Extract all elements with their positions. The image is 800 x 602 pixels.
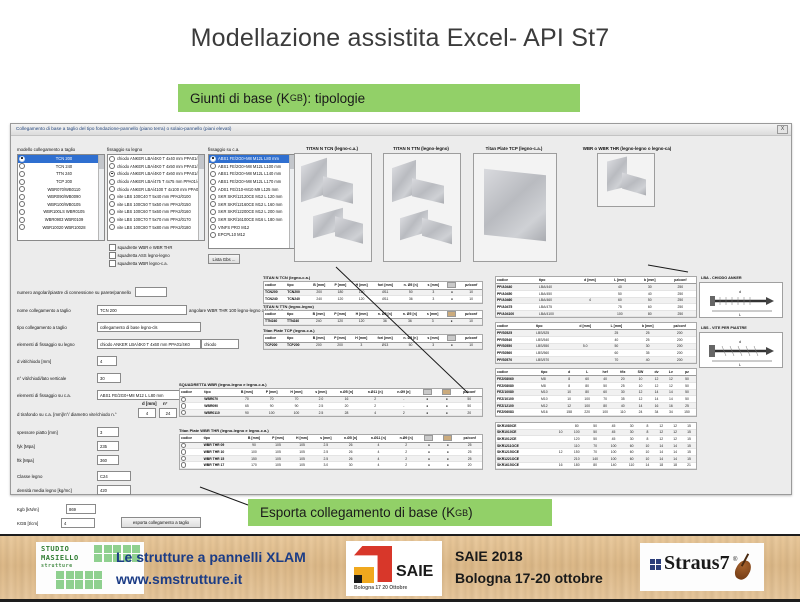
td: WBR THR 10 [203,449,242,456]
list-item[interactable]: chiodo ANKER LBA/475 T 4x75 mm PPA01/475 [108,178,204,186]
th: P [mm] [330,335,351,342]
td: 90 [242,442,266,449]
th: n.Ø9 [n] [390,389,417,396]
listbox-model[interactable]: TCN 200 TCN 240 TTN 240 TCP 200 WBR070/W… [17,154,105,241]
schematic-lba: d L [699,282,783,318]
th: codice [264,311,286,318]
list-item[interactable]: vite LBS 100C80 T 5x80 mm PPA2/0180 [108,223,204,231]
td: 2.5 [309,409,333,416]
radio-icon[interactable] [210,209,216,215]
export-collegamento-button[interactable]: esporta collegamento a taglio [121,517,201,528]
list-item-label: ABS1 FE/2G0+M8 M12L L170 mm [218,179,295,184]
list-item[interactable]: vite LBS 100C60 T 5x60 mm PPA2/0160 [108,208,204,216]
th: d [mm] [575,277,605,284]
table-row: TTN240 TTN240 240 120 120 36 36 3 ● 10 [264,318,482,325]
saie-black-shape [354,575,362,583]
radio-icon[interactable] [109,186,115,192]
td: 4 [364,455,393,462]
close-icon[interactable]: X [777,125,788,134]
td: 50 [678,396,696,403]
td: 60 [623,449,641,456]
radio-icon[interactable] [109,201,115,207]
td-radio[interactable] [180,442,203,449]
list-item[interactable]: WBR10020 WBR10028 [18,223,104,231]
straus7-sq-2 [656,559,661,564]
td: FEZ/06083 [496,409,540,416]
table-row: WBR THR 09 90 105 105 2.5 26 4 2 ● ● 25 [180,442,482,449]
table-row: SKR1615OCE 16 180 80 140 110 14 18 18 21 [496,462,696,469]
td: 25 [632,330,663,337]
td: 50 [605,290,635,297]
list-item[interactable]: TTN 240 [18,170,104,178]
list-item-label: TCP 200 [27,179,104,184]
label-concrete-group: fissaggio su c.a. [208,147,239,152]
list-item-label: chiodo ANKER LBA/4K0 T 4x60 mm PPA01/4K6 [117,171,204,176]
th: codice [264,335,286,342]
td: PF/A0440 [496,284,538,291]
td: 40 [596,376,614,383]
checkbox-icon[interactable] [109,244,116,251]
scrollbar-model[interactable] [98,155,104,240]
radio-icon[interactable] [210,171,216,177]
td: SKR1211OCE [496,442,554,449]
list-item[interactable]: TCN 240 [18,163,104,171]
color-swatch [447,282,456,288]
scrollbar-wood[interactable] [198,155,204,240]
td: 2 [393,462,419,469]
list-item-label: vite LBS 100C80 T 5x80 mm PPA2/0180 [117,225,204,230]
td: 250 [665,297,696,304]
td-radio[interactable] [180,409,203,416]
th: B [mm] [234,389,259,396]
td: 2 [393,442,419,449]
td: 2 [393,449,419,456]
radio-icon[interactable] [19,171,25,177]
radio-icon[interactable] [210,201,216,207]
td: 2 [390,409,417,416]
radio-icon[interactable] [109,179,115,185]
td: 10 [632,382,650,389]
logo-line-2: MASIELLO [41,554,79,562]
td: 2.5 [314,442,337,449]
td: 14 [632,402,650,409]
list-item-label: VINFS PRO M12 [218,225,295,230]
th: n.Ø5 [n] [333,389,360,396]
radio-icon[interactable] [210,163,216,169]
photo-tcn [294,153,372,262]
list-item[interactable]: EPCPL10 M12 [209,231,295,239]
td: 10 [460,296,482,303]
label-fissaggio-legno: elementi di fissaggio su legno [17,342,75,347]
td: ● [443,342,460,349]
input-kgb-knm[interactable]: 869 [66,504,96,514]
th: SW [632,369,650,376]
th: pz/conf [665,277,696,284]
td: 10 [640,442,654,449]
td-radio[interactable] [180,455,203,462]
td: LBA/475 [538,304,575,311]
listbox-wood-fixings[interactable]: chiodo ANKER LBA/4K0 T 4x40 mm PPA01/4K0… [107,154,205,241]
radio-icon[interactable] [210,186,216,192]
page-title: Modellazione assistita Excel- API St7 [0,24,800,53]
list-item[interactable]: chiodo ANKER LBA/4100 T 4x100 mm PPA01/4… [108,185,204,193]
color-swatch [423,389,432,395]
list-item[interactable]: VINFS PRO M12 [209,223,295,231]
schematic-caption-lba: LBA - CHIODO ANKER [701,276,742,280]
table-row: TCN240 TCN240 240 120 120 Ø11 36 3 ● 10 [264,296,482,303]
list-item-label: TTN 240 [27,171,104,176]
list-item[interactable]: chiodo ANKER LBA/4K0 T 4x40 mm PPA01/4K0 [108,155,204,163]
td-radio[interactable] [180,449,203,456]
table-header-row: codice tipo B [mm] P [mm] H [mm] fori [m… [264,282,482,289]
td: WBR070 [203,396,234,403]
radio-icon[interactable] [19,186,25,192]
td: 4 [575,297,605,304]
th: pz/conf [663,323,696,330]
td: 14 [640,462,654,469]
td: 12 [554,449,568,456]
td: PF/A0450 [496,290,538,297]
checkbox-label: squadrette WBR e WBR THR [118,245,173,250]
td [575,310,605,317]
table-header-row: codice tipo d L hef tfix SW dv Lv pz [496,369,696,376]
td: 18 [654,462,668,469]
input-tipo-collegamento[interactable]: collegamento di base legno-cls [97,322,201,332]
list-item[interactable]: ADS1 FE/210+M10 M9 L125 mm [209,185,295,193]
td: 14 [668,455,682,462]
td: 4 [364,442,393,449]
radio-icon[interactable] [109,209,115,215]
table-header-row: codice tipo B [mm] P [mm] H [mm] n. Ø5 [… [264,311,482,318]
input-fissaggio-legno[interactable]: chiodo ANKER LBA/4K0 T 4x60 mm PPA01/4K0 [97,339,201,349]
td: 105 [266,455,290,462]
wood-swatch [447,311,456,317]
radio-icon[interactable] [19,209,25,215]
th: n.Ø5 [n] [337,435,363,442]
input-densita[interactable]: 420 [97,485,131,495]
th: d [mm] [570,323,601,330]
radio-icon[interactable] [19,163,25,169]
td: 150 [678,409,696,416]
td: 45 [604,436,622,443]
checkbox-label: squadretta ASS legno-legno [118,253,170,258]
footer-tagline: Le strutture a pannelli XLAM [116,549,306,565]
td: 60 [578,376,596,383]
table-caption-squadretta: SQUADRETTA WBR (legno-legno e legno-c.a.… [179,382,267,387]
td: 180 [568,462,586,469]
td: 250 [665,304,696,311]
checkbox-wbr-ca[interactable]: squadretta WBR legno-c.a. [109,260,168,267]
td: TTN240 [286,318,308,325]
list-item[interactable]: SKR SKR/16100CE M16 L 180 mm [209,216,295,224]
td: 10 [560,396,578,403]
th: s [mm] [422,311,443,318]
label-fyk: fyk [Mpa] [17,444,35,449]
td: 120 [330,296,351,303]
td: 26 [337,455,363,462]
list-item-label: WBR100LS WBR0105 [27,209,104,214]
list-item-label: chiodo ANKER LBA/4100 T 4x100 mm PPA01/4… [117,187,204,192]
td-radio[interactable] [180,462,203,469]
table-row: SKR1215OCE 12 150 70 100 60 10 14 14 15 [496,449,696,456]
td: 200 [663,356,696,363]
checkbox-icon[interactable] [109,252,116,259]
radio-icon[interactable] [109,224,115,230]
td: 240 [309,296,330,303]
list-item-label: TCN 200 [27,156,104,161]
input-ftk[interactable]: 360 [97,455,119,465]
th: n. Ø5 [n] [397,311,422,318]
td: 36 [372,318,397,325]
td: 20 [614,376,631,383]
td: 110 [614,409,631,416]
checkbox-wbr-thr[interactable]: squadrette WBR e WBR THR [109,244,172,251]
input-classe-legno[interactable]: C24 [97,471,131,481]
th: s [mm] [423,282,444,289]
label-densita: densità media legno [kg/mc] [17,488,72,493]
td: FEZ/08080 [496,382,540,389]
td: LBS/570 [535,356,569,363]
radio-icon[interactable] [109,171,115,177]
schematic-lbs: d L [699,332,783,368]
list-item[interactable]: ABS1 FE/2G0+M8 M12L L100 mm [209,163,295,171]
radio-icon[interactable] [181,449,186,454]
td: 70 [259,396,284,403]
th: codice [180,435,203,442]
td: 12 [668,436,682,443]
list-item-label: WBR100/WB0105 [27,202,104,207]
radio-icon[interactable] [19,217,25,223]
input-tirafondo-n[interactable]: 24 [159,408,177,418]
td: 8 [640,436,654,443]
td: FEZ/08060 [496,376,540,383]
input-numero-angolari[interactable] [135,287,167,297]
footer-website-link[interactable]: www.smstrutture.it [116,571,242,587]
radio-icon[interactable] [19,179,25,185]
table-squadretta-wbr: codice tipo B [mm] P [mm] H [mm] s [mm] … [179,388,483,417]
td [575,304,605,311]
td: FEZ/12100 [496,402,540,409]
input-spessore[interactable]: 3 [97,427,119,437]
radio-icon[interactable] [109,156,115,162]
td: TTN240 [264,318,286,325]
td: 12 [560,402,578,409]
td: 30 [623,436,641,443]
list-item[interactable]: WBR0903 WBR0109 [18,216,104,224]
list-item[interactable]: SKR SKR/12160CE M12 L 160 mm [209,201,295,209]
list-item[interactable]: vite LBS 100C50 T 5x50 mm PPA2/0150 [108,201,204,209]
th-swatch [417,389,437,396]
td: 25 [457,455,482,462]
straus7-wordmark: Straus7 [664,552,730,575]
td-radio[interactable] [180,403,203,410]
radio-icon[interactable] [210,179,216,185]
td: ● [444,289,461,296]
td-radio[interactable] [180,396,203,403]
list-item[interactable]: ABS1 FE/2G0+M8 M12L L170 mm [209,178,295,186]
table-tcp: codice tipo B [mm] P [mm] H [mm] fori [m… [263,334,483,350]
th: tfix [614,369,631,376]
list-item[interactable]: ABS1 FE/2G0+M8 M12L L140 mm [209,170,295,178]
td [575,284,605,291]
list-item[interactable]: WBR090/WB0090 [18,193,104,201]
td: 105 [290,455,314,462]
td: 80 [596,402,614,409]
straus7-sq-1 [650,559,655,564]
td: 24 [632,409,650,416]
td: 150 [242,455,266,462]
userform-body: modello collegamento a taglio fissaggio … [11,136,791,494]
td: 50 [596,382,614,389]
table-row: WBR090 65 90 90 2.5 20 2 - ● ● 50 [180,403,482,410]
td: 105 [266,442,290,449]
label-numero-angolari: numero angolari/piastre di connessione s… [17,290,131,295]
th: pz/conf [457,389,482,396]
label-n-count: n° [163,401,167,406]
radio-icon[interactable] [109,163,115,169]
td: 60 [635,304,665,311]
input-fyk[interactable]: 235 [97,441,119,451]
input-n-viti-verticale[interactable]: 30 [97,373,121,383]
radio-icon[interactable] [210,156,216,162]
list-item[interactable]: SKR SKR/12200CE M12 L 200 mm [209,208,295,216]
td: 50 [601,343,632,350]
td: ● [417,403,437,410]
td: 40 [635,290,665,297]
userform-caption: Collegamento di base a taglio del tipo f… [16,126,231,131]
radio-icon[interactable] [210,217,216,223]
td: 30 [635,284,665,291]
table-wbr-thr: codice tipo B [mm] P [mm] H [mm] s [mm] … [179,434,483,470]
list-item[interactable]: ABS1 FE/2G0+M8 M12L L80 mm [209,155,295,163]
td: ● [417,396,437,403]
th: n. Ø5 [n] [398,335,423,342]
radio-icon[interactable] [181,456,186,461]
td: 50 [678,389,696,396]
radio-icon[interactable] [210,224,216,230]
td: 10 [554,429,568,436]
radio-icon[interactable] [109,194,115,200]
logo-line-1: STUDIO [41,545,69,553]
td: LBA/450 [538,290,575,297]
radio-icon[interactable] [181,403,186,408]
td: 25 [632,336,663,343]
list-item[interactable]: WBR070/WB0110 [18,185,104,193]
table-row: FEZ/10100 M10 10 100 70 35 12 14 14 50 [496,396,696,403]
banner-bottom-text-post: ) [468,505,473,520]
td: 8 [560,382,578,389]
td: 240 [308,318,330,325]
photo-caption-tcn: TITAN N TCN (legno-c.a.) [292,146,372,151]
list-item[interactable]: chiodo ANKER LBA/4K0 T 4x50 mm PPA01/4K5 [108,163,204,171]
td: 3 [422,318,443,325]
radio-icon[interactable] [19,194,25,200]
list-item[interactable]: vite LBS 100C40 T 5x40 mm PPA2/0100 [108,193,204,201]
svg-text:d: d [739,339,741,344]
excel-userform-window[interactable]: X Collegamento di base a taglio del tipo… [10,123,792,495]
radio-icon[interactable] [181,462,186,467]
checkbox-icon[interactable] [109,260,116,267]
radio-icon[interactable] [109,217,115,223]
label-tirafondo: d tirafondo su c.a. [mm]/n°/ diametro vi… [17,412,117,417]
input-d-vite[interactable]: 4 [97,356,117,366]
td: LBS/560 [535,350,569,357]
th-swatch [443,335,460,342]
radio-icon[interactable] [181,397,186,402]
td: 200 [330,342,351,349]
list-item[interactable]: SKR SKR/12120CE M12 L 120 mm [209,193,295,201]
td: SKR1012CE [496,436,554,443]
input-tirafondo-d[interactable]: 4 [138,408,156,418]
list-item[interactable]: chiodo ANKER LBA/4K0 T 4x60 mm PPA01/4K6 [108,170,204,178]
label-d-mm: d [mm] [142,401,157,406]
radio-icon[interactable] [19,201,25,207]
list-item[interactable]: vite LBS 100C70 T 5x70 mm PPA2/0170 [108,216,204,224]
list-item[interactable]: WBR100LS WBR0105 [18,208,104,216]
radio-icon[interactable] [181,410,186,415]
td: 100 [242,449,266,456]
checkbox-ass-legno[interactable]: squadretta ASS legno-legno [109,252,170,259]
td: 14 [654,442,668,449]
td: 140 [586,455,604,462]
td: 70 [586,442,604,449]
td: 100 [284,409,309,416]
list-item[interactable]: TCP 200 [18,178,104,186]
td: 15 [682,455,696,462]
input-nome-collegamento[interactable]: TCN 200 [97,305,187,315]
td: 2 [393,455,419,462]
th: hef [596,369,614,376]
list-item-label: WBR090/WB0090 [27,194,104,199]
th: s [mm] [309,389,333,396]
list-item[interactable]: WBR100/WB0105 [18,201,104,209]
table-row: SKR1211OCE 110 70 100 60 10 14 14 15 [496,442,696,449]
input-chiodo[interactable]: chiodo [201,339,239,349]
table-header-row: codice tipo B [mm] P [mm] H [mm] s [mm] … [180,435,482,442]
td: 20 [457,409,482,416]
radio-icon[interactable] [210,232,216,238]
td: 80 [578,389,596,396]
td: M10 [540,396,560,403]
listbox-concrete-fixings[interactable]: ABS1 FE/2G0+M8 M12L L80 mm ABS1 FE/2G0+M… [208,154,296,249]
screw-diagram-icon: d L [700,333,782,367]
td: 65 [234,403,259,410]
table-header-row: codice tipo B [mm] P [mm] H [mm] s [mm] … [180,389,482,396]
radio-icon[interactable] [181,443,186,448]
td: 180 [330,289,351,296]
radio-icon[interactable] [19,156,25,162]
lista-gbs-button[interactable]: Lista Gbs ... [208,254,240,264]
list-item[interactable]: TCN 200 [18,155,104,163]
straus7-sq-3 [650,565,655,570]
td: 3.0 [314,462,337,469]
radio-icon[interactable] [210,194,216,200]
input-kgb-tcm[interactable]: 4 [61,518,95,528]
saie-logo: SAIE Bologna 17 20 Ottobre [346,541,442,596]
th: pz [678,369,696,376]
photo-wbr [597,153,655,207]
td: 50 [398,342,423,349]
td: 26 [337,442,363,449]
label-fissaggio-ca: elementi di fissaggio su c.a. [17,393,71,398]
td: 40 [601,336,632,343]
th: pz/conf [460,311,482,318]
td: 14 [654,449,668,456]
td: TCN200 [264,289,286,296]
color-swatch [447,335,456,341]
radio-icon[interactable] [19,224,25,230]
table-row: PF/A0450 LBA/450 50 40 250 [496,290,696,297]
